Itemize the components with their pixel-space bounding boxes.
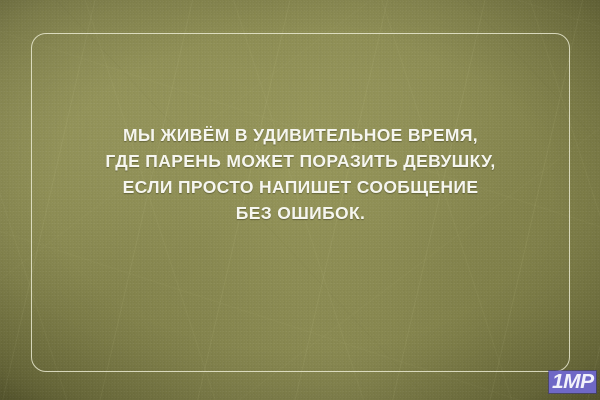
quote-line-2: ГДЕ ПАРЕНЬ МОЖЕТ ПОРАЗИТЬ ДЕВУШКУ, — [105, 148, 495, 174]
quote-line-3: ЕСЛИ ПРОСТО НАПИШЕТ СООБЩЕНИЕ — [123, 174, 479, 200]
quote-line-1: МЫ ЖИВЁМ В УДИВИТЕЛЬНОЕ ВРЕМЯ, — [123, 122, 478, 148]
quote-line-4: БЕЗ ОШИБОК. — [236, 200, 365, 226]
watermark-badge: 1MP — [549, 371, 596, 393]
quote-text-block: МЫ ЖИВЁМ В УДИВИТЕЛЬНОЕ ВРЕМЯ, ГДЕ ПАРЕН… — [31, 33, 570, 372]
watermark-label: 1MP — [552, 372, 594, 392]
quote-card: МЫ ЖИВЁМ В УДИВИТЕЛЬНОЕ ВРЕМЯ, ГДЕ ПАРЕН… — [0, 0, 600, 400]
